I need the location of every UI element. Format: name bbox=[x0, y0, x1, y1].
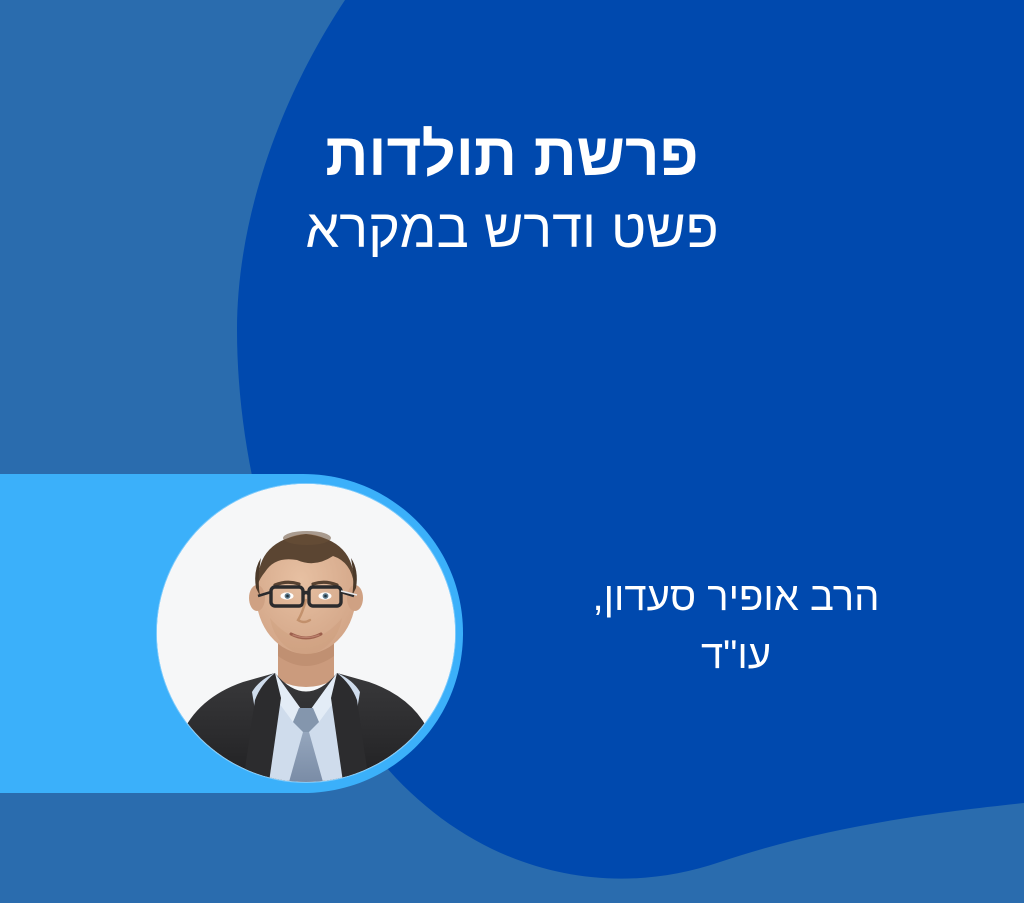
speaker-name: הרב אופיר סעדון, bbox=[536, 568, 936, 626]
background-shapes bbox=[0, 0, 1024, 903]
speaker-block: הרב אופיר סעדון, עו"ד bbox=[536, 568, 936, 684]
slide-canvas: פרשת תולדות פשט ודרש במקרא bbox=[0, 0, 1024, 903]
portrait-photo bbox=[157, 484, 455, 782]
portrait-circle-frame bbox=[157, 484, 455, 782]
speaker-title: עו"ד bbox=[536, 626, 936, 684]
